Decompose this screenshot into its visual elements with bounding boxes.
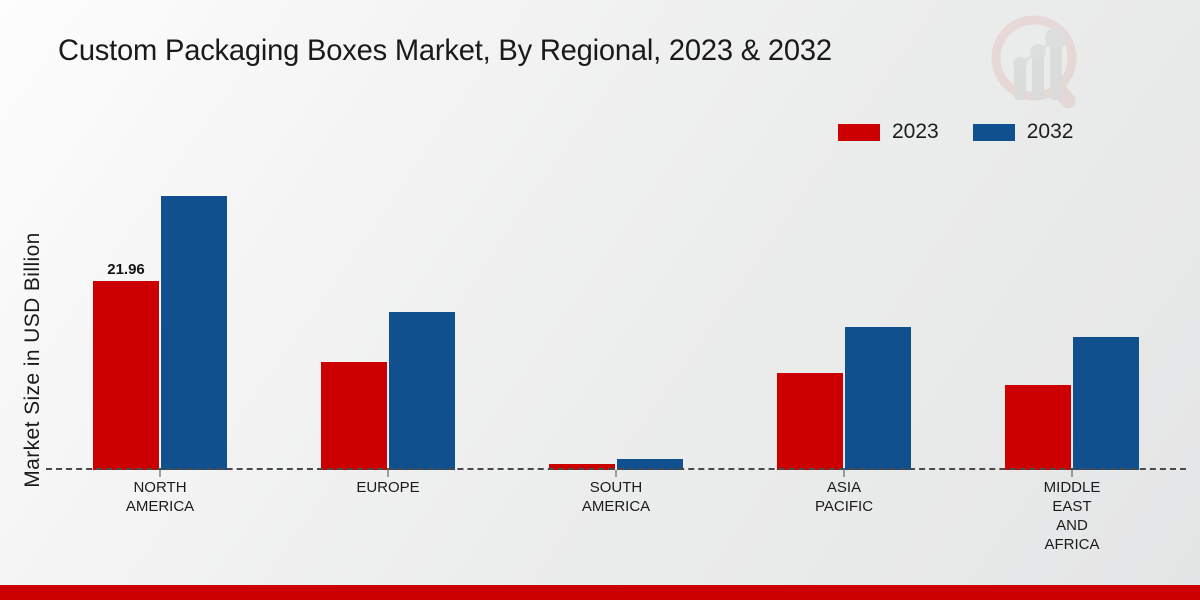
- x-axis-tick: [1072, 470, 1073, 477]
- bar-group: [730, 160, 958, 470]
- x-axis-category-label: NORTHAMERICA: [46, 478, 274, 554]
- category-label-line: ASIA: [730, 478, 958, 497]
- bar-2032[interactable]: [389, 312, 455, 470]
- bar-pair: [274, 160, 502, 470]
- legend-swatch-2032: [973, 124, 1015, 141]
- legend-label-2032: 2032: [1027, 120, 1074, 144]
- category-label-line: SOUTH: [502, 478, 730, 497]
- bar-2023[interactable]: [777, 373, 843, 470]
- plot-area: 21.96: [46, 160, 1186, 470]
- bar-pair: [730, 160, 958, 470]
- y-axis-title: Market Size in USD Billion: [21, 185, 45, 535]
- watermark-logo-icon: [988, 14, 1092, 112]
- bar-group: [502, 160, 730, 470]
- category-label-line: AFRICA: [958, 535, 1186, 554]
- chart-figure: Custom Packaging Boxes Market, By Region…: [0, 0, 1200, 600]
- bar-pair: [958, 160, 1186, 470]
- x-axis-tick: [844, 470, 845, 477]
- legend-item-2032[interactable]: 2032: [973, 120, 1074, 144]
- category-label-line: NORTH: [46, 478, 274, 497]
- bar-2023[interactable]: 21.96: [93, 281, 159, 470]
- bar-2032[interactable]: [161, 196, 227, 470]
- legend-swatch-2023: [838, 124, 880, 141]
- category-label-line: AMERICA: [502, 497, 730, 516]
- bar-group: 21.96: [46, 160, 274, 470]
- x-axis-baseline: [46, 468, 1186, 470]
- legend-item-2023[interactable]: 2023: [838, 120, 939, 144]
- x-axis-tick: [160, 470, 161, 477]
- bar-2023[interactable]: [1005, 385, 1071, 470]
- chart-legend: 2023 2032: [838, 120, 1073, 144]
- x-axis-category-label: SOUTHAMERICA: [502, 478, 730, 554]
- footer-accent-bar: [0, 585, 1200, 600]
- x-axis-category-label: EUROPE: [274, 478, 502, 554]
- bar-group: [274, 160, 502, 470]
- x-axis-tick: [616, 470, 617, 477]
- chart-title: Custom Packaging Boxes Market, By Region…: [58, 34, 832, 68]
- bar-pair: 21.96: [46, 160, 274, 470]
- bar-group: [958, 160, 1186, 470]
- category-label-line: EAST: [958, 497, 1186, 516]
- bar-pair: [502, 160, 730, 470]
- legend-label-2023: 2023: [892, 120, 939, 144]
- category-label-line: MIDDLE: [958, 478, 1186, 497]
- bar-2032[interactable]: [1073, 337, 1139, 470]
- category-label-line: AMERICA: [46, 497, 274, 516]
- category-label-line: AND: [958, 516, 1186, 535]
- bar-value-label: 21.96: [107, 261, 145, 278]
- bar-2032[interactable]: [845, 327, 911, 470]
- x-axis-tick: [388, 470, 389, 477]
- x-axis-category-label: ASIAPACIFIC: [730, 478, 958, 554]
- bar-2023[interactable]: [321, 362, 387, 471]
- x-axis-category-labels: NORTHAMERICAEUROPESOUTHAMERICAASIAPACIFI…: [46, 478, 1186, 554]
- bar-groups: 21.96: [46, 160, 1186, 470]
- category-label-line: PACIFIC: [730, 497, 958, 516]
- category-label-line: EUROPE: [274, 478, 502, 497]
- x-axis-category-label: MIDDLEEASTANDAFRICA: [958, 478, 1186, 554]
